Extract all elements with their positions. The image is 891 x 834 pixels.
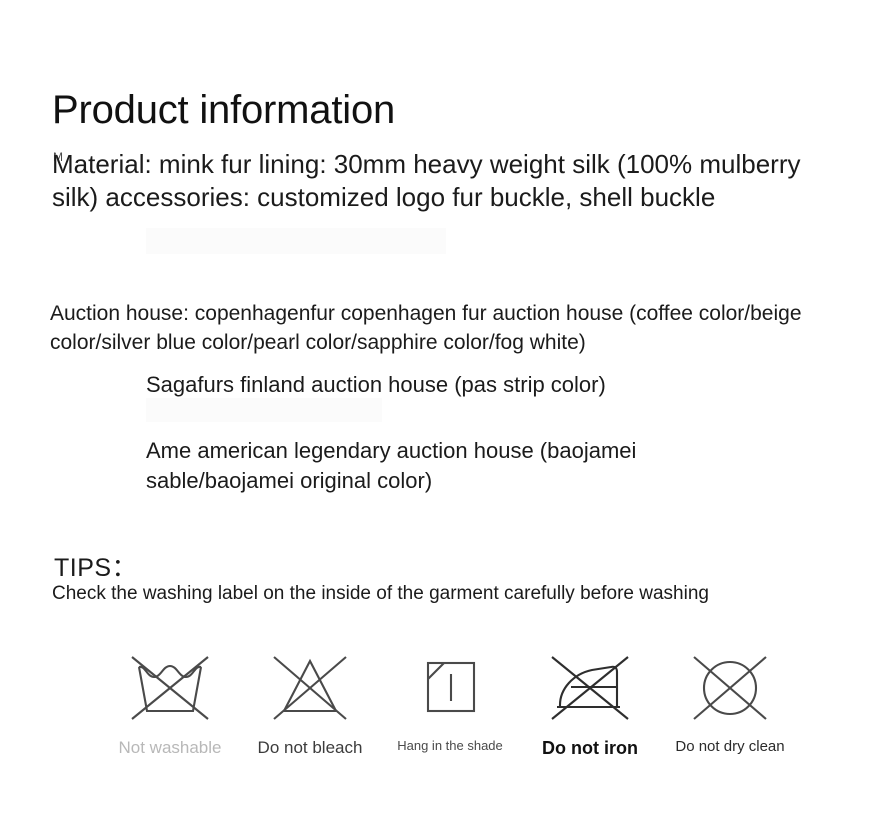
page-title: Product information (52, 87, 395, 133)
material-paragraph: Material: mink fur lining: 30mm heavy we… (52, 148, 812, 214)
care-label-hang-in-shade: Hang in the shade (397, 738, 503, 753)
no-bleach-icon (265, 648, 355, 726)
dry-in-shade-icon (405, 648, 495, 726)
no-wash-icon (125, 648, 215, 726)
auction-house-sagafurs: Sagafurs finland auction house (pas stri… (146, 370, 846, 400)
care-label-do-not-bleach: Do not bleach (258, 738, 363, 758)
no-dry-clean-icon (685, 648, 775, 726)
tips-body-text: Check the washing label on the inside of… (52, 583, 709, 605)
care-symbol-row: Not washable Do not bleach (100, 648, 800, 778)
care-label-do-not-iron: Do not iron (542, 738, 638, 759)
auction-house-primary: Auction house: copenhagenfur copenhagen … (50, 299, 820, 357)
auction-house-ame: Ame american legendary auction house (ba… (146, 436, 766, 496)
care-item-do-not-iron: Do not iron (520, 648, 660, 759)
product-information-page: Product information Material: mink fur l… (0, 0, 891, 834)
care-item-do-not-dry-clean: Do not dry clean (660, 648, 800, 755)
care-item-hang-in-shade: Hang in the shade (380, 648, 520, 753)
care-label-do-not-dry-clean: Do not dry clean (675, 738, 784, 755)
no-iron-icon (545, 648, 635, 726)
care-item-not-washable: Not washable (100, 648, 240, 758)
care-label-not-washable: Not washable (118, 738, 221, 758)
tips-heading: TIPS： (54, 548, 137, 584)
watermark-band-1 (146, 228, 446, 254)
watermark-band-2 (146, 398, 382, 422)
care-item-do-not-bleach: Do not bleach (240, 648, 380, 758)
